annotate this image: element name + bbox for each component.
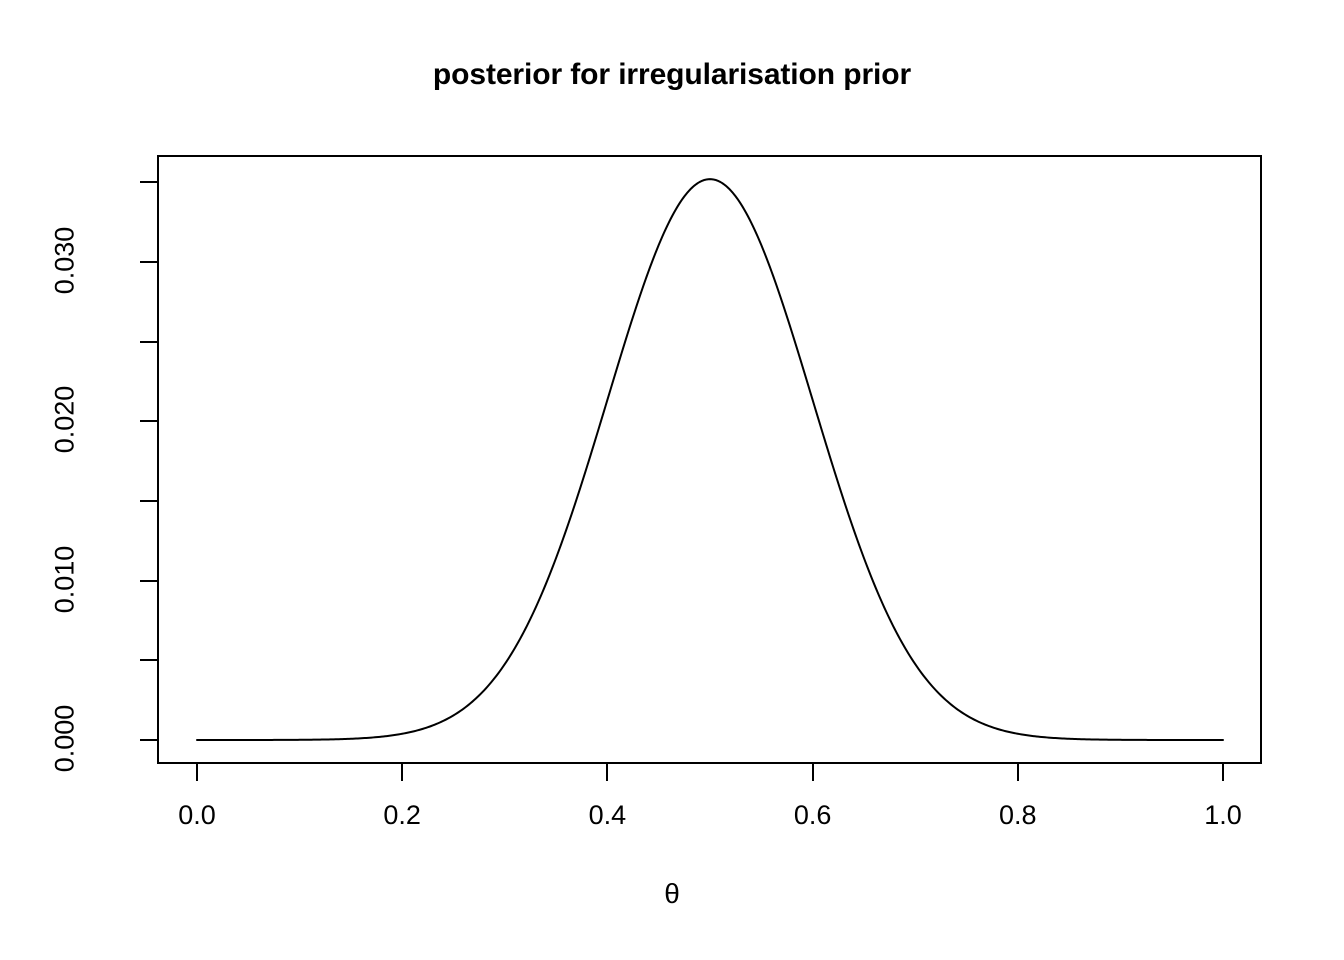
y-tick	[140, 420, 157, 422]
posterior-density-curve	[157, 155, 1262, 764]
x-tick-label: 0.4	[547, 800, 667, 831]
x-tick	[196, 764, 198, 781]
density-line	[197, 179, 1223, 740]
x-tick	[812, 764, 814, 781]
y-tick-label: 0.030	[50, 196, 81, 326]
x-axis-title: θ	[0, 878, 1344, 910]
x-tick-label: 0.8	[958, 800, 1078, 831]
y-tick	[140, 341, 157, 343]
y-tick	[140, 659, 157, 661]
x-tick	[1222, 764, 1224, 781]
y-tick	[140, 261, 157, 263]
x-tick-label: 1.0	[1163, 800, 1283, 831]
page-title: posterior for irregularisation prior	[0, 58, 1344, 92]
y-tick	[140, 580, 157, 582]
plot-canvas: posterior for irregularisation prior 0.0…	[0, 0, 1344, 960]
y-tick	[140, 181, 157, 183]
y-tick	[140, 739, 157, 741]
y-tick	[140, 500, 157, 502]
y-tick-label: 0.020	[50, 355, 81, 485]
x-tick-label: 0.6	[753, 800, 873, 831]
x-tick	[401, 764, 403, 781]
x-tick-label: 0.0	[137, 800, 257, 831]
x-tick	[1017, 764, 1019, 781]
x-tick	[606, 764, 608, 781]
y-tick-label: 0.000	[50, 674, 81, 804]
y-tick-label: 0.010	[50, 514, 81, 644]
x-tick-label: 0.2	[342, 800, 462, 831]
